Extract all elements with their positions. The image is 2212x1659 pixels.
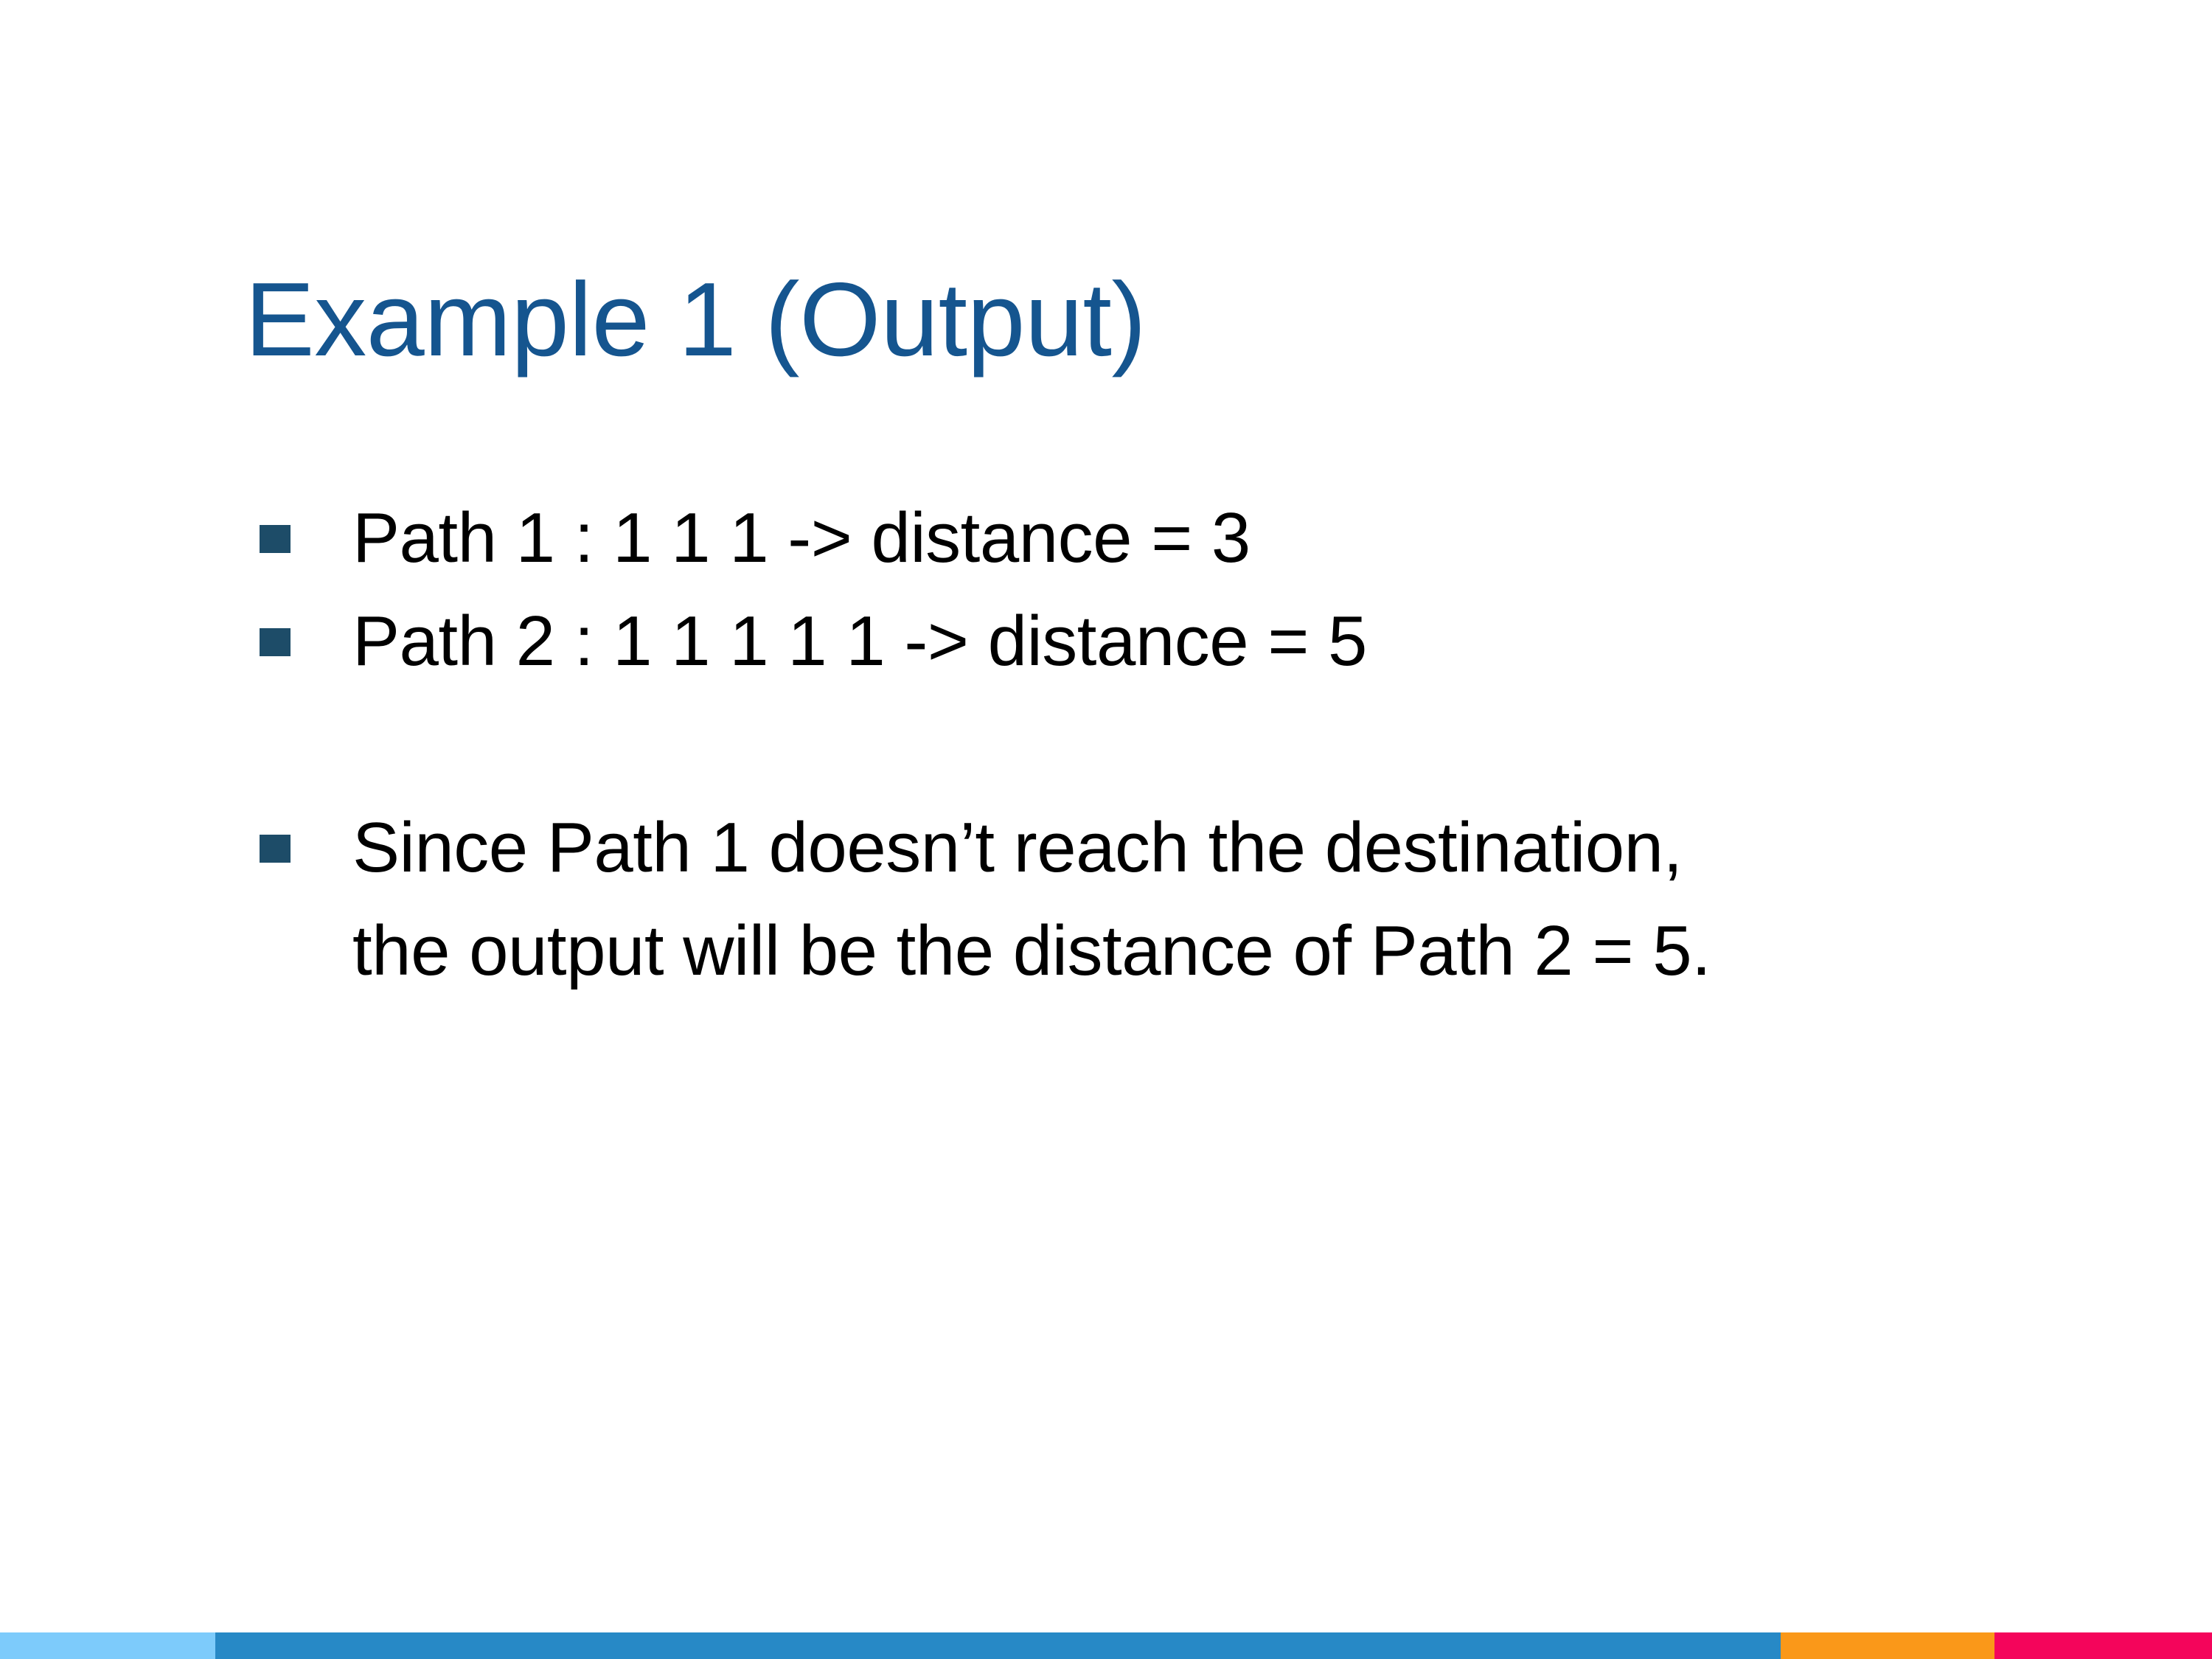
bullet-text-conclusion: Since Path 1 doesn’t reach the destinati… — [352, 796, 2140, 1003]
blank-line-spacer — [260, 693, 2140, 796]
bullet-text-path-2: Path 2 : 1 1 1 1 1 -> distance = 5 — [352, 590, 2140, 693]
presentation-slide: Example 1 (Output) Path 1 : 1 1 1 -> dis… — [0, 0, 2212, 1659]
bullet-line: Path 1 : 1 1 1 -> distance = 3 — [352, 487, 2140, 590]
bullet-item-conclusion: Since Path 1 doesn’t reach the destinati… — [260, 796, 2140, 1003]
footer-color-bar — [0, 1632, 2212, 1659]
slide-body: Path 1 : 1 1 1 -> distance = 3 Path 2 : … — [260, 487, 2140, 1003]
bullet-line: Path 2 : 1 1 1 1 1 -> distance = 5 — [352, 590, 2140, 693]
footer-segment-orange — [1781, 1632, 1994, 1659]
bullet-item-path-2: Path 2 : 1 1 1 1 1 -> distance = 5 — [260, 590, 2140, 693]
bullet-line: Since Path 1 doesn’t reach the destinati… — [352, 796, 2140, 900]
footer-segment-light-blue — [0, 1632, 215, 1659]
bullet-item-path-1: Path 1 : 1 1 1 -> distance = 3 — [260, 487, 2140, 590]
bullet-text-path-1: Path 1 : 1 1 1 -> distance = 3 — [352, 487, 2140, 590]
bullet-line: the output will be the distance of Path … — [352, 900, 2140, 1003]
square-bullet-icon — [260, 628, 291, 656]
footer-segment-blue — [215, 1632, 1781, 1659]
square-bullet-icon — [260, 525, 291, 553]
square-bullet-icon — [260, 835, 291, 863]
page-title: Example 1 (Output) — [245, 268, 2014, 372]
footer-segment-crimson — [1994, 1632, 2212, 1659]
